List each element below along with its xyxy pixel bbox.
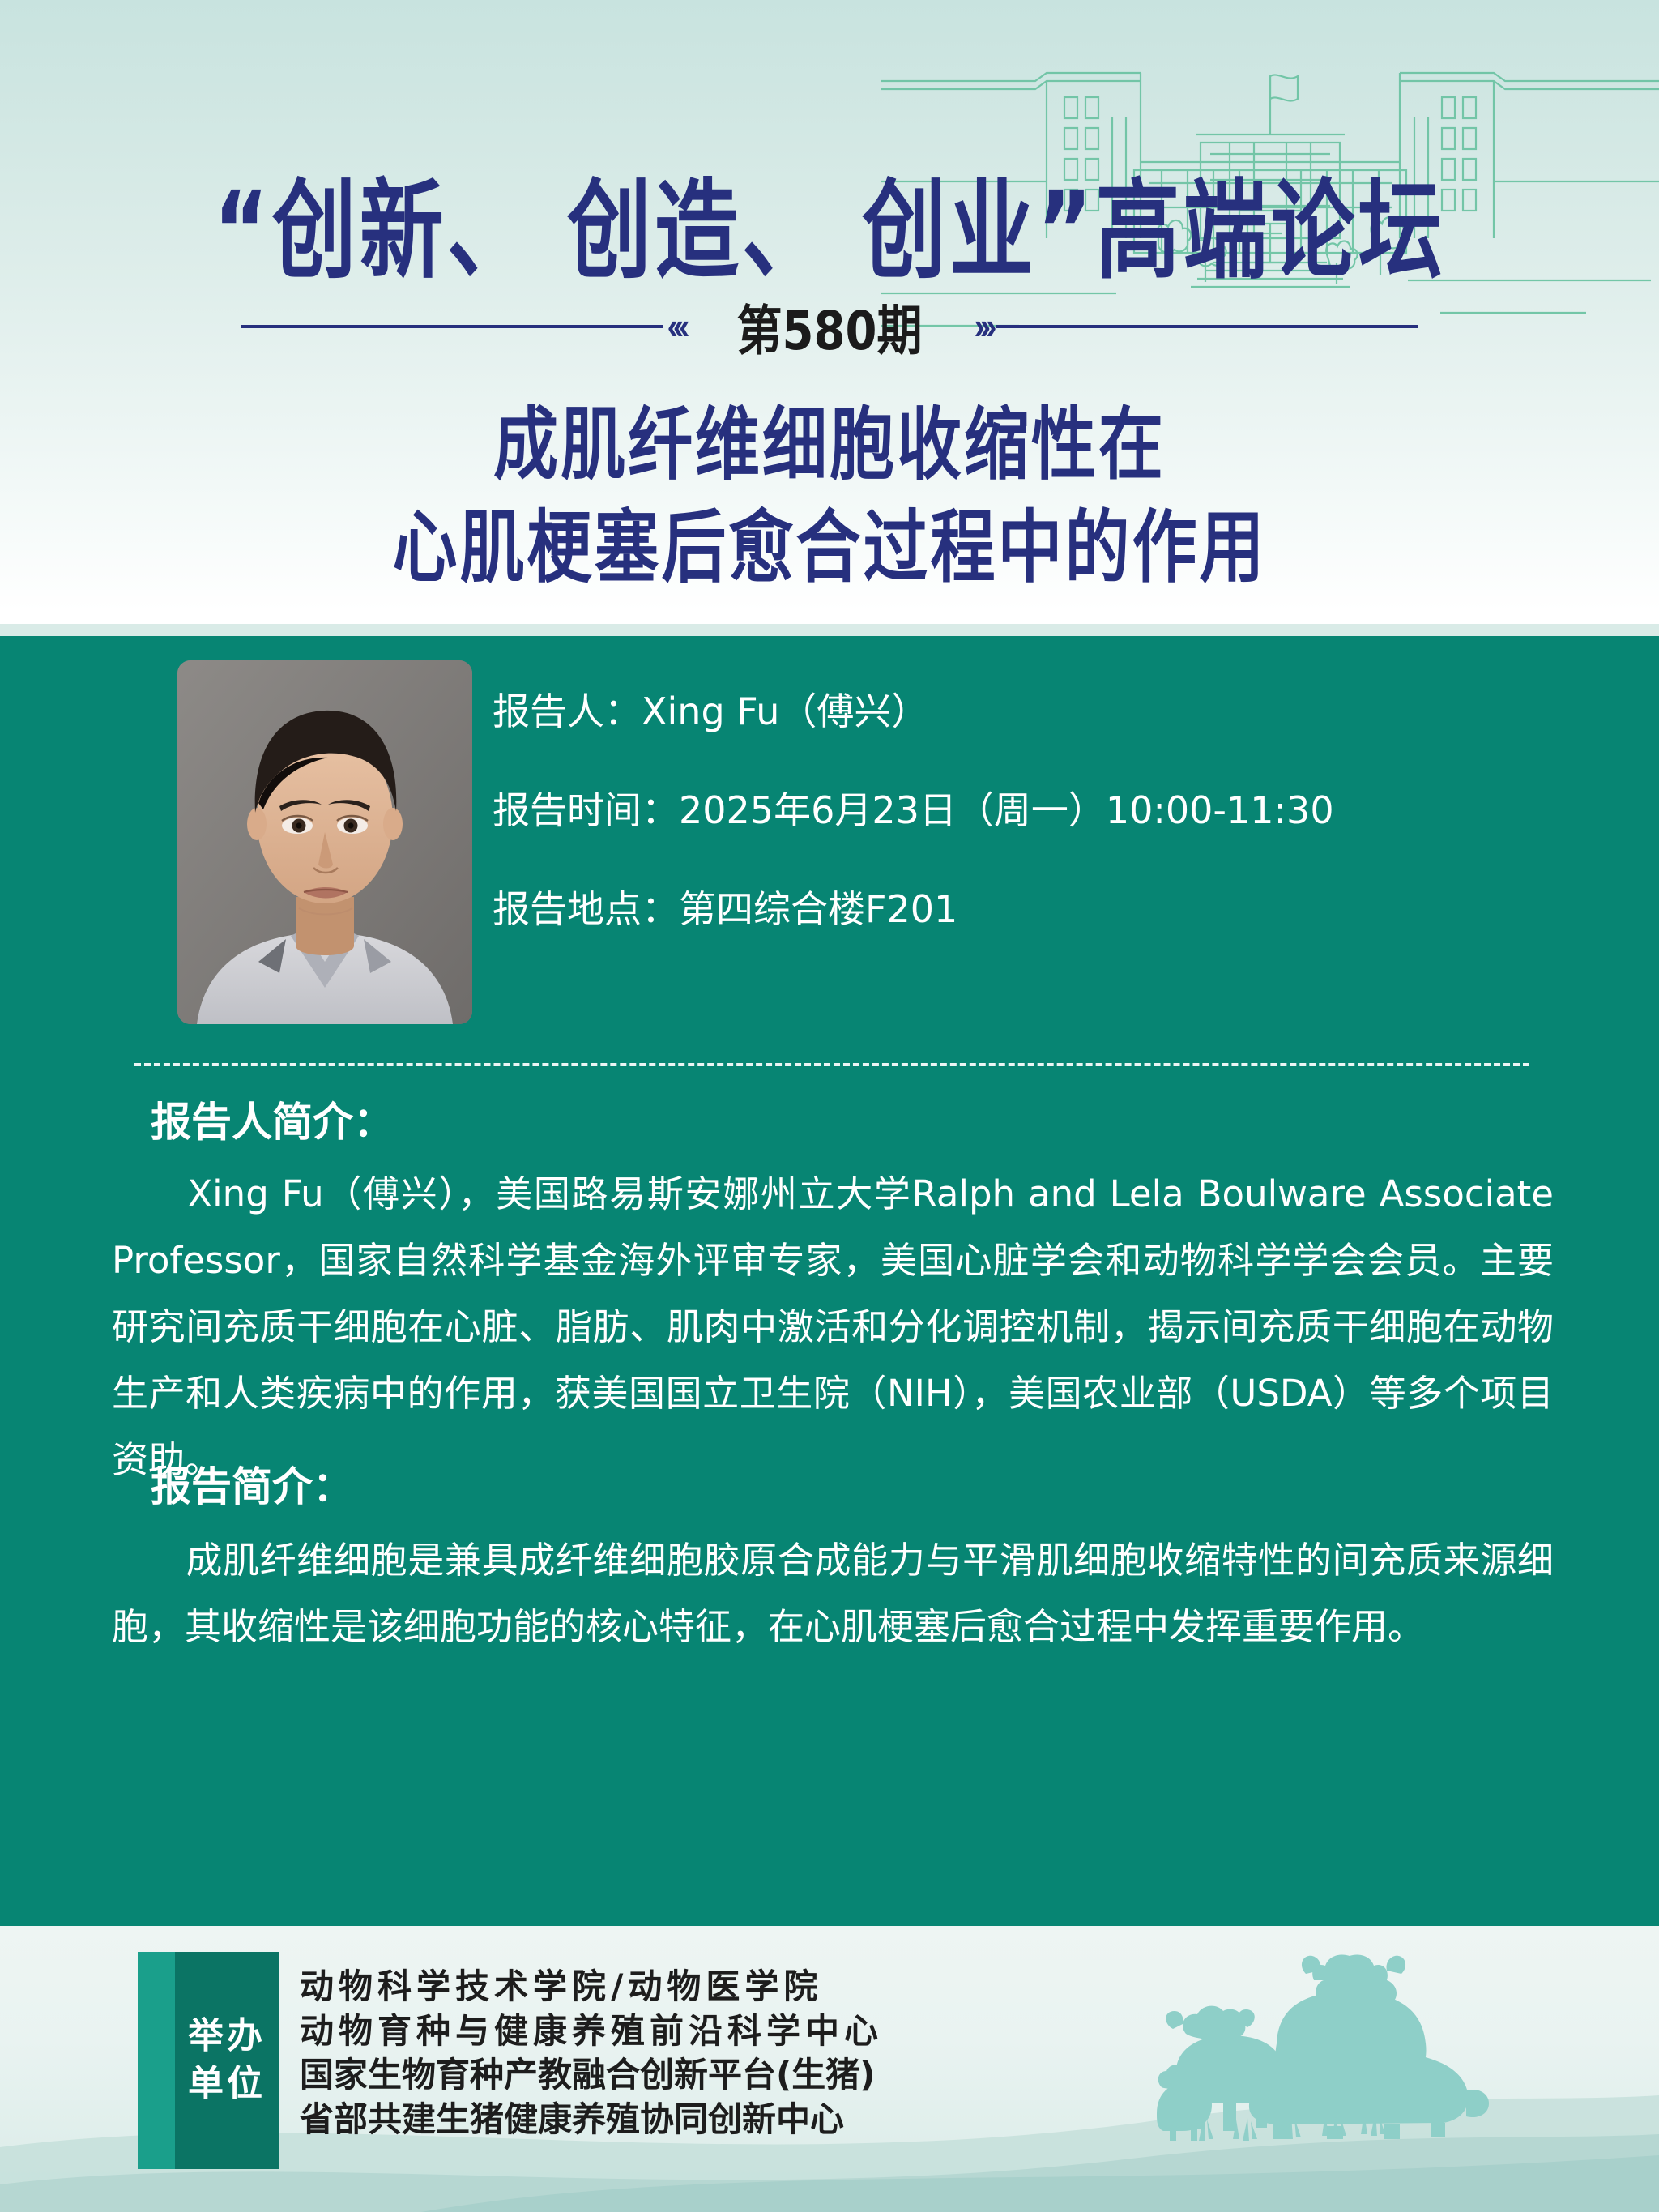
abstract-body: 成肌纤维细胞是兼具成纤维细胞胶原合成能力与平滑肌细胞收缩特性的间充质来源细胞，其… xyxy=(112,1527,1554,1660)
organizer-item: 动物育种与健康养殖前沿科学中心 xyxy=(300,2009,883,2054)
chevron-right-icon: ››› xyxy=(969,308,996,345)
issue-rule-right xyxy=(996,325,1418,328)
abstract-text: 成肌纤维细胞是兼具成纤维细胞胶原合成能力与平滑肌细胞收缩特性的间充质来源细胞，其… xyxy=(112,1527,1554,1660)
organizer-badge: 举办 单位 xyxy=(138,1952,279,2169)
meta-presenter: 报告人：Xing Fu（傅兴） xyxy=(493,693,1529,730)
seminar-poster: “创新、 创造、 创业”高端论坛 ‹‹‹ 第580期 ››› 成肌纤维细胞收缩性… xyxy=(0,0,1659,2212)
organizer-badge-line-2: 单位 xyxy=(188,2060,266,2108)
header-green-divider-band xyxy=(0,624,1659,636)
talk-title-line-2: 心肌梗塞后愈合过程中的作用 xyxy=(0,497,1659,600)
bio-heading: 报告人简介： xyxy=(151,1090,394,1148)
meta-time: 报告时间：2025年6月23日（周一）10:00-11:30 xyxy=(493,792,1529,829)
poster-body: 报告人：Xing Fu（傅兴） 报告时间：2025年6月23日（周一）10:00… xyxy=(0,636,1659,1926)
organizer-item: 省部共建生猪健康养殖协同创新中心 xyxy=(300,2098,883,2142)
organizer-item: 动物科学技术学院/动物医学院 xyxy=(300,1965,883,2009)
farm-animals-silhouette xyxy=(1155,1938,1609,2141)
abstract-heading: 报告简介： xyxy=(151,1454,353,1513)
speaker-meta: 报告人：Xing Fu（傅兴） 报告时间：2025年6月23日（周一）10:00… xyxy=(493,693,1529,989)
organizer-badge-line-1: 举办 xyxy=(188,2013,266,2060)
talk-title: 成肌纤维细胞收缩性在 心肌梗塞后愈合过程中的作用 xyxy=(0,394,1659,600)
issue-number: 第580期 xyxy=(690,288,970,365)
chevron-left-icon: ‹‹‹ xyxy=(663,308,690,345)
speaker-portrait xyxy=(177,660,472,1024)
issue-row: ‹‹‹ 第580期 ››› xyxy=(0,290,1659,363)
bio-text: Xing Fu（傅兴），美国路易斯安娜州立大学Ralph and Lela Bo… xyxy=(112,1161,1554,1492)
poster-footer: 举办 单位 动物科学技术学院/动物医学院 动物育种与健康养殖前沿科学中心 国家生… xyxy=(0,1926,1659,2212)
organizer-list: 动物科学技术学院/动物医学院 动物育种与健康养殖前沿科学中心 国家生物育种产教融… xyxy=(300,1965,883,2142)
poster-header: “创新、 创造、 创业”高端论坛 ‹‹‹ 第580期 ››› 成肌纤维细胞收缩性… xyxy=(0,0,1659,630)
meta-venue: 报告地点：第四综合楼F201 xyxy=(493,890,1529,928)
section-divider xyxy=(134,1063,1529,1066)
bio-body: Xing Fu（傅兴），美国路易斯安娜州立大学Ralph and Lela Bo… xyxy=(112,1161,1554,1492)
organizer-item: 国家生物育种产教融合创新平台(生猪) xyxy=(300,2053,883,2098)
forum-title: “创新、 创造、 创业”高端论坛 xyxy=(0,143,1659,299)
organizer-badge-strip xyxy=(138,1952,175,2169)
issue-rule-left xyxy=(241,325,663,328)
talk-title-line-1: 成肌纤维细胞收缩性在 xyxy=(0,394,1659,497)
organizer-badge-block: 举办 单位 xyxy=(175,1952,279,2169)
